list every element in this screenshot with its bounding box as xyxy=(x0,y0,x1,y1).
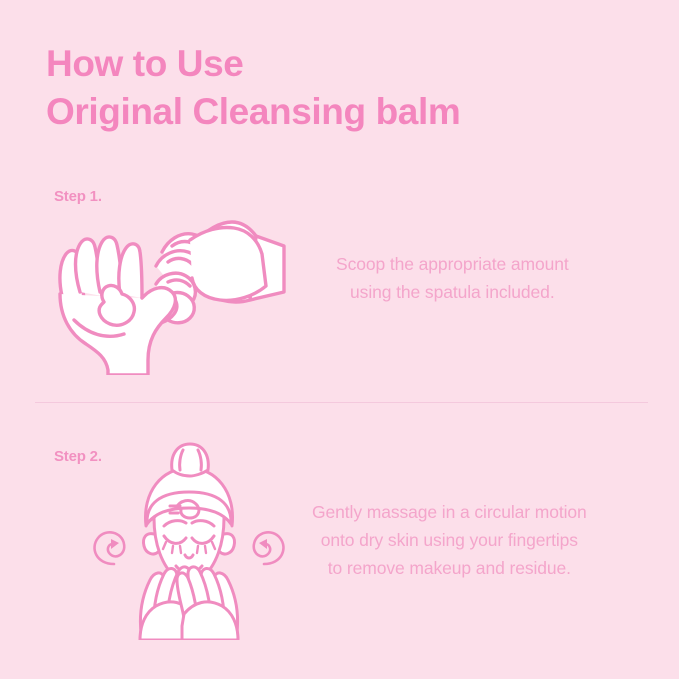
section-divider xyxy=(35,402,648,403)
swirl-left xyxy=(95,532,125,564)
step-2-description: Gently massage in a circular motion onto… xyxy=(312,498,587,582)
step-2-section: Step 2. xyxy=(0,440,679,640)
page-title-line-1: How to Use xyxy=(46,40,646,88)
hands-scooping-balm-with-spatula-icon xyxy=(44,200,304,380)
swirl-right xyxy=(254,532,284,564)
step-1-description: Scoop the appropriate amount using the s… xyxy=(336,250,569,306)
step-1-section: Step 1. xyxy=(0,178,679,378)
page-title-line-2: Original Cleansing balm xyxy=(46,88,646,136)
how-to-use-infographic: How to Use Original Cleansing balm Step … xyxy=(0,0,679,679)
step-2-description-line-3: to remove makeup and residue. xyxy=(312,554,587,582)
right-hand xyxy=(177,567,238,640)
woman-massaging-face-with-fingertips-icon xyxy=(84,440,294,645)
step-1-description-line-1: Scoop the appropriate amount xyxy=(336,250,569,278)
step-2-description-line-2: onto dry skin using your fingertips xyxy=(312,526,587,554)
page-title: How to Use Original Cleansing balm xyxy=(46,40,646,136)
step-2-description-line-1: Gently massage in a circular motion xyxy=(312,498,587,526)
step-1-description-line-2: using the spatula included. xyxy=(336,278,569,306)
